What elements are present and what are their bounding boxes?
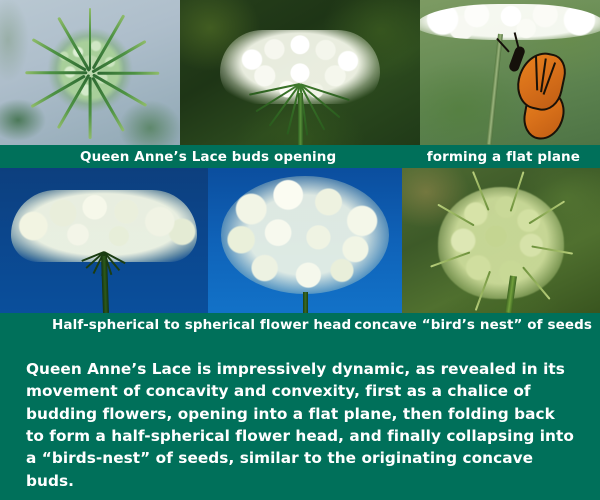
caption-flat-plane: forming a flat plane (427, 149, 580, 165)
caption-birds-nest: concave “bird’s nest” of seeds (354, 317, 592, 333)
caption-band-bottom: Half-spherical to spherical flower head … (0, 313, 600, 336)
photo-umbel-opening (180, 0, 420, 145)
caption-buds-opening: Queen Anne’s Lace buds opening (80, 149, 336, 165)
photo-row-top (0, 0, 600, 145)
stem (486, 34, 503, 145)
photo-flat-plane-monarch (420, 0, 600, 145)
bract-spike (97, 71, 159, 74)
monarch-butterfly (516, 50, 578, 142)
stem (303, 292, 308, 313)
queen-annes-lace-infographic: Queen Anne’s Lace buds opening forming a… (0, 0, 600, 500)
photo-half-spherical (0, 168, 208, 313)
caption-half-spherical: Half-spherical to spherical flower head (52, 317, 351, 333)
wing-vein (535, 56, 538, 90)
bract-spike (89, 8, 92, 70)
description-paragraph: Queen Anne’s Lace is impressively dynami… (0, 336, 600, 500)
flat-plane-umbel (420, 4, 600, 40)
photo-birds-nest (402, 168, 600, 313)
photo-spherical (208, 168, 402, 313)
caption-band-top: Queen Anne’s Lace buds opening forming a… (0, 145, 600, 168)
birds-nest-seed-head (438, 187, 564, 299)
bract-spike (89, 77, 92, 139)
spherical-head (221, 176, 389, 294)
bract-spike (25, 71, 87, 74)
stem (298, 93, 303, 145)
photo-row-bottom (0, 168, 600, 313)
photo-buds-chalice (0, 0, 180, 145)
